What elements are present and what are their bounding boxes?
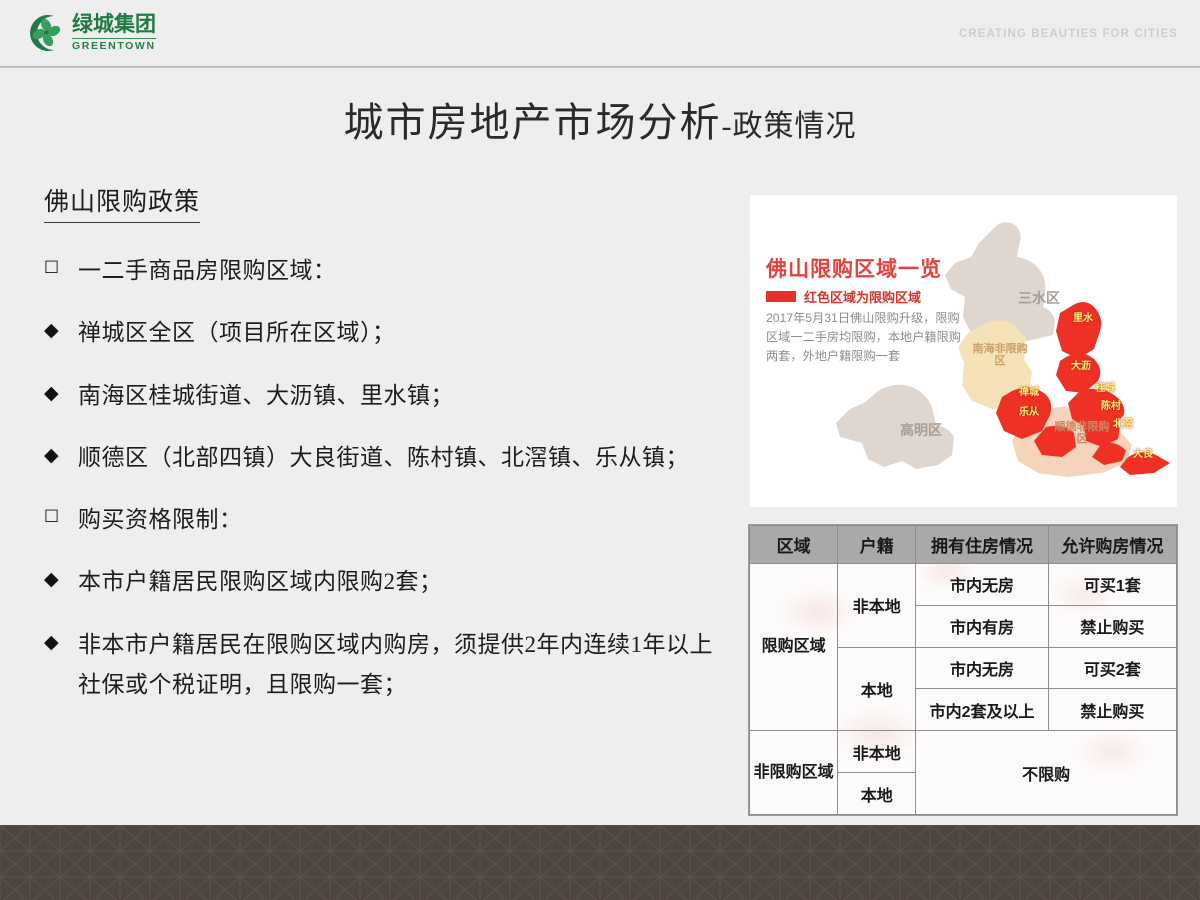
diamond-bullet-icon: ◆ <box>44 625 78 657</box>
cell-region-limited: 限购区域 <box>750 564 838 731</box>
footer-decorative-band <box>0 825 1200 900</box>
legend-label: 红色区域为限购区域 <box>804 287 921 306</box>
bullet-item: □ 一二手商品房限购区域： <box>44 251 734 291</box>
bullet-item: ◆ 禅城区全区（项目所在区域）； <box>44 313 734 353</box>
cell-ownership: 市内有房 <box>916 605 1048 647</box>
header-tagline: CREATING BEAUTIES FOR CITIES <box>959 28 1178 40</box>
bullet-text: 禅城区全区（项目所在区域）； <box>78 313 396 353</box>
bullet-text: 非本市户籍居民在限购区域内购房，须提供2年内连续1年以上社保或个税证明，且限购一… <box>78 625 734 706</box>
map-title: 佛山限购区域一览 <box>766 253 942 283</box>
bullet-item: ◆ 南海区桂城街道、大沥镇、里水镇； <box>44 376 734 416</box>
legend-color-swatch <box>766 291 796 302</box>
bullet-item: ◆ 本市户籍居民限购区域内限购2套； <box>44 562 734 602</box>
map-legend: 红色区域为限购区域 <box>766 287 921 306</box>
square-bullet-icon: □ <box>44 500 78 528</box>
cell-hukou-nonlocal: 非本地 <box>838 564 916 648</box>
table-header-ownership: 拥有住房情况 <box>916 526 1048 564</box>
diamond-bullet-icon: ◆ <box>44 562 78 594</box>
table-header-row: 区域 户籍 拥有住房情况 允许购房情况 <box>750 526 1177 564</box>
greentown-logo: 绿城集团 GREENTOWN <box>24 12 156 54</box>
content-column: 佛山限购政策 □ 一二手商品房限购区域： ◆ 禅城区全区（项目所在区域）； ◆ … <box>44 182 734 727</box>
bullet-text: 顺德区（北部四镇）大良街道、陈村镇、北滘镇、乐从镇； <box>78 438 689 478</box>
diamond-bullet-icon: ◆ <box>44 376 78 408</box>
logo-text-cn: 绿城集团 <box>72 14 156 35</box>
table-row: 限购区域 非本地 市内无房 可买1套 <box>750 564 1177 606</box>
bullet-text: 南海区桂城街道、大沥镇、里水镇； <box>78 376 454 416</box>
diamond-bullet-icon: ◆ <box>44 313 78 345</box>
section-heading: 佛山限购政策 <box>44 182 200 223</box>
page-title-main: 城市房地产市场分析 <box>344 100 722 145</box>
foshan-restriction-map-image: 佛山限购区域一览 红色区域为限购区域 2017年5月31日佛山限购升级，限购区域… <box>750 195 1177 507</box>
cell-hukou-nonlocal: 非本地 <box>838 731 916 773</box>
bullet-item: □ 购买资格限制： <box>44 500 734 540</box>
greentown-logo-icon <box>24 12 66 54</box>
table-header-allowance: 允许购房情况 <box>1048 526 1176 564</box>
bullet-text: 购买资格限制： <box>78 500 243 540</box>
header-divider <box>0 66 1200 68</box>
cell-allowance: 可买1套 <box>1048 564 1176 606</box>
page-title-sub: -政策情况 <box>722 110 857 143</box>
table-row: 非限购区域 非本地 不限购 <box>750 731 1177 773</box>
cell-unlimited-value: 不限购 <box>916 731 1177 815</box>
cell-ownership: 市内2套及以上 <box>916 689 1048 731</box>
cell-ownership: 市内无房 <box>916 564 1048 606</box>
logo-text-en: GREENTOWN <box>72 38 156 52</box>
bullet-text: 本市户籍居民限购区域内限购2套； <box>78 562 443 602</box>
cell-allowance: 禁止购买 <box>1048 689 1176 731</box>
cell-allowance: 禁止购买 <box>1048 605 1176 647</box>
diamond-bullet-icon: ◆ <box>44 438 78 470</box>
cell-allowance: 可买2套 <box>1048 647 1176 689</box>
square-bullet-icon: □ <box>44 251 78 279</box>
bullet-item: ◆ 顺德区（北部四镇）大良街道、陈村镇、北滘镇、乐从镇； <box>44 438 734 478</box>
cell-ownership: 市内无房 <box>916 647 1048 689</box>
cell-hukou-local: 本地 <box>838 647 916 731</box>
table-header-hukou: 户籍 <box>838 526 916 564</box>
bullet-item: ◆ 非本市户籍居民在限购区域内购房，须提供2年内连续1年以上社保或个税证明，且限… <box>44 625 734 706</box>
slide: 绿城集团 GREENTOWN CREATING BEAUTIES FOR CIT… <box>0 0 1200 900</box>
map-description: 2017年5月31日佛山限购升级，限购区域一二手房均限购，本地户籍限购两套，外地… <box>766 309 966 366</box>
page-title: 城市房地产市场分析-政策情况 <box>0 90 1200 148</box>
cell-hukou-local: 本地 <box>838 773 916 815</box>
cell-region-unlimited: 非限购区域 <box>750 731 838 815</box>
bullet-text: 一二手商品房限购区域： <box>78 251 337 291</box>
footer-pattern-icon <box>0 825 1200 900</box>
table-header-region: 区域 <box>750 526 838 564</box>
slide-header: 绿城集团 GREENTOWN CREATING BEAUTIES FOR CIT… <box>0 0 1200 67</box>
purchase-policy-table: 区域 户籍 拥有住房情况 允许购房情况 限购区域 非本地 市内无房 可买1套 市… <box>748 524 1178 816</box>
